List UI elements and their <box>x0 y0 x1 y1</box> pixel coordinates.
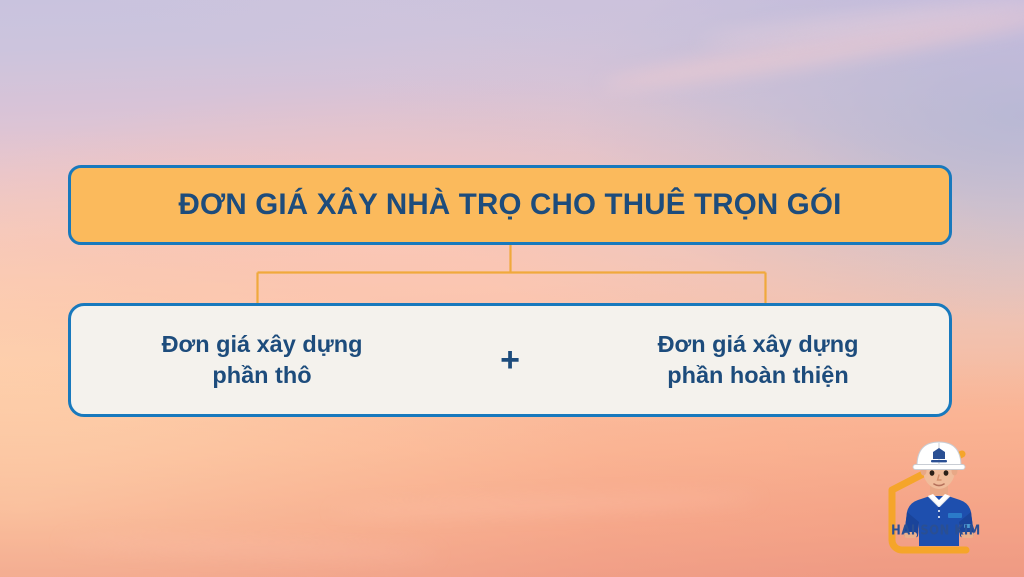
brand-wordmark: HAI SON KIM <box>866 522 1006 539</box>
brand-logo[interactable]: HAI SON KIM <box>866 428 1006 568</box>
cloud-streak <box>60 533 440 562</box>
diagram-components-node[interactable]: Đơn giá xây dựng phần thô + Đơn giá xây … <box>68 303 952 417</box>
diagram-title-node[interactable]: ĐƠN GIÁ XÂY NHÀ TRỌ CHO THUÊ TRỌN GÓI <box>68 165 952 245</box>
cloud-streak <box>330 491 760 520</box>
brand-logo-graphic <box>866 428 1006 568</box>
diagram-title-label: ĐƠN GIÁ XÂY NHÀ TRỌ CHO THUÊ TRỌN GÓI <box>178 190 841 220</box>
component-rough-construction-label: Đơn giá xây dựng phần thô <box>97 329 427 392</box>
slide-canvas: ĐƠN GIÁ XÂY NHÀ TRỌ CHO THUÊ TRỌN GÓI Đơ… <box>0 0 1024 577</box>
component-finishing-label: Đơn giá xây dựng phần hoàn thiện <box>593 329 923 392</box>
plus-operator-icon: + <box>490 343 530 377</box>
